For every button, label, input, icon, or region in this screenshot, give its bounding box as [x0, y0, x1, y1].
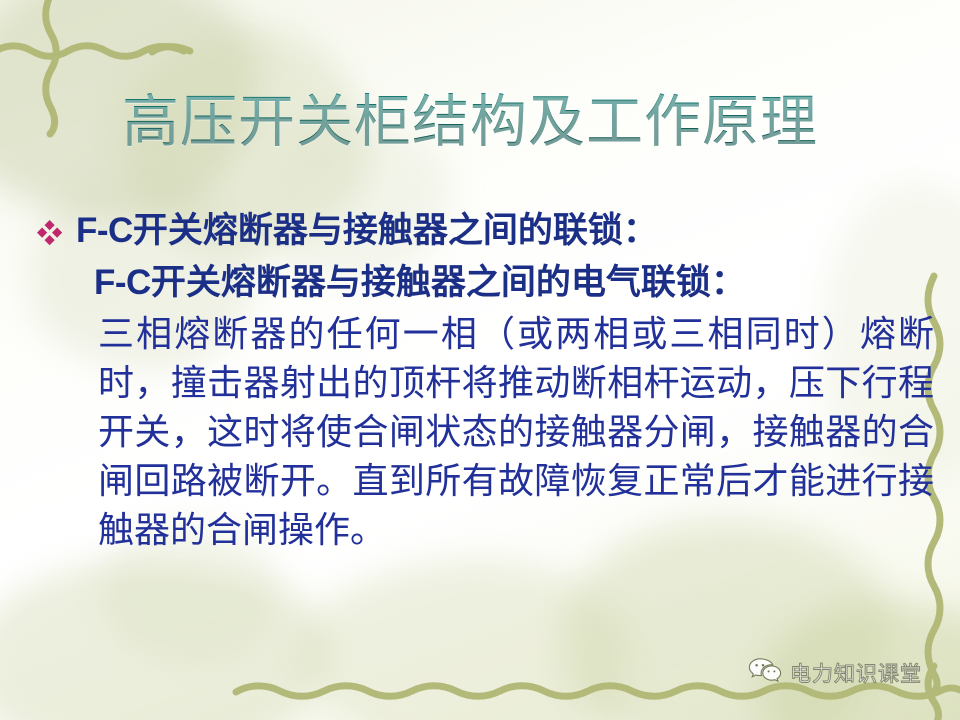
bullet-cjk-text: 开关熔断器与接触器之间的联锁：: [133, 211, 658, 250]
slide-canvas: 高压开关柜结构及工作原理 F-C开关熔断器与接触器之间的联锁： F-C开关熔断器…: [0, 0, 960, 720]
watermark: 电力知识课堂: [748, 657, 922, 688]
diamond-cluster-bullet-icon: [36, 206, 76, 246]
slide-title: 高压开关柜结构及工作原理: [122, 92, 818, 155]
bullet-item: F-C开关熔断器与接触器之间的联锁：: [36, 206, 936, 256]
line2-cjk-text: 开关熔断器与接触器之间的电气联锁：: [151, 263, 746, 302]
line2-latin-prefix: F-C: [94, 263, 151, 302]
body-paragraph: 三相熔断器的任何一相（或两相或三相同时）熔断时，撞击器射出的顶杆将推动断相杆运动…: [98, 310, 934, 555]
bullet-latin-prefix: F-C: [76, 211, 133, 250]
slide-body: F-C开关熔断器与接触器之间的联锁： F-C开关熔断器与接触器之间的电气联锁： …: [36, 206, 936, 555]
wechat-icon: [748, 657, 782, 688]
body-text-line-2: F-C开关熔断器与接触器之间的电气联锁：: [94, 258, 936, 308]
bullet-text-line-1: F-C开关熔断器与接触器之间的联锁：: [76, 206, 658, 256]
watermark-text: 电力知识课堂: [790, 658, 922, 688]
